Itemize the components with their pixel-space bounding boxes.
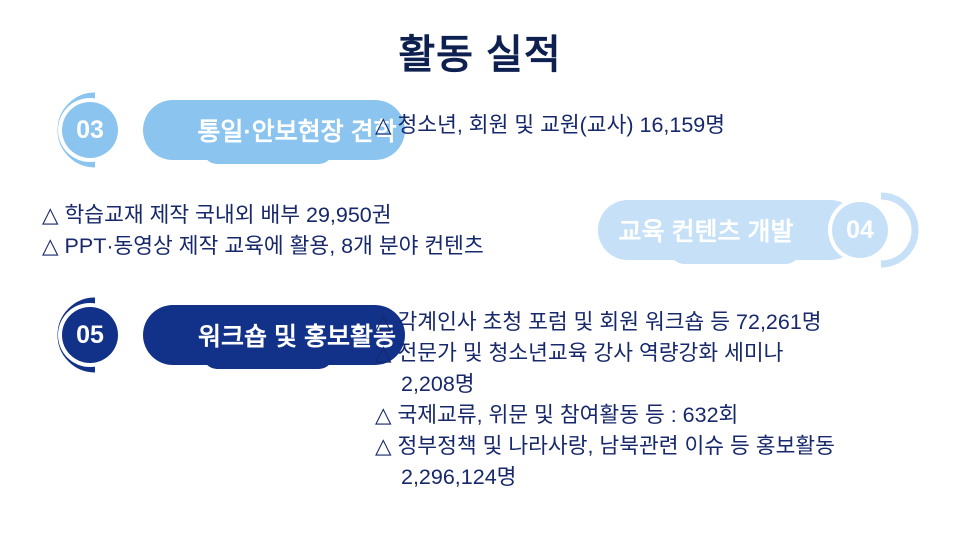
body-line: △ 국제교류, 위문 및 참여활동 등 : 632회 [375,400,835,431]
section-pill-03[interactable]: 통일·안보현장 견학 [143,100,405,160]
section-label-05: 워크숍 및 홍보활동 [198,317,396,353]
section-pill-04[interactable]: 교육 컨텐츠 개발 [598,200,860,260]
pill-tail-04 [670,250,800,264]
pill-tail-03 [203,150,333,164]
body-line: △ 정부정책 및 나라사랑, 남북관련 이슈 등 홍보활동 [375,431,835,462]
section-number-04: 04 [846,216,874,245]
body-line: △ 전문가 및 청소년교육 강사 역량강화 세미나 [375,338,835,369]
body-line: 2,208명 [375,369,835,400]
pill-tail-05 [203,355,333,369]
section-03: 통일·안보현장 견학 03 [38,90,378,170]
section-05: 워크숍 및 홍보활동 05 [38,295,378,375]
section-number-badge-05[interactable]: 05 [62,307,118,363]
section-label-03: 통일·안보현장 견학 [197,112,396,148]
page-title: 활동 실적 [0,22,960,80]
body-line: △ 각계인사 초청 포럼 및 회원 워크숍 등 72,261명 [375,307,835,338]
body-text-04: △ 학습교재 제작 국내외 배부 29,950권 △ PPT·동영상 제작 교육… [42,200,484,262]
body-line: △ PPT·동영상 제작 교육에 활용, 8개 분야 컨텐츠 [42,231,484,262]
body-text-05: △ 각계인사 초청 포럼 및 회원 워크숍 등 72,261명 △ 전문가 및 … [375,307,835,493]
body-line: 2,296,124명 [375,462,835,493]
section-number-badge-04[interactable]: 04 [832,202,888,258]
slide-canvas: 활동 실적 통일·안보현장 견학 03 △ 청소년, 회원 및 교원(교사) 1… [0,0,960,540]
body-text-03: △ 청소년, 회원 및 교원(교사) 16,159명 [375,110,725,141]
section-pill-05[interactable]: 워크숍 및 홍보활동 [143,305,405,365]
body-line: △ 학습교재 제작 국내외 배부 29,950권 [42,200,484,231]
section-number-03: 03 [76,116,104,145]
section-04: 교육 컨텐츠 개발 04 [598,190,938,270]
body-line: △ 청소년, 회원 및 교원(교사) 16,159명 [375,110,725,141]
section-number-05: 05 [76,321,104,350]
section-label-04: 교육 컨텐츠 개발 [619,212,794,248]
section-number-badge-03[interactable]: 03 [62,102,118,158]
